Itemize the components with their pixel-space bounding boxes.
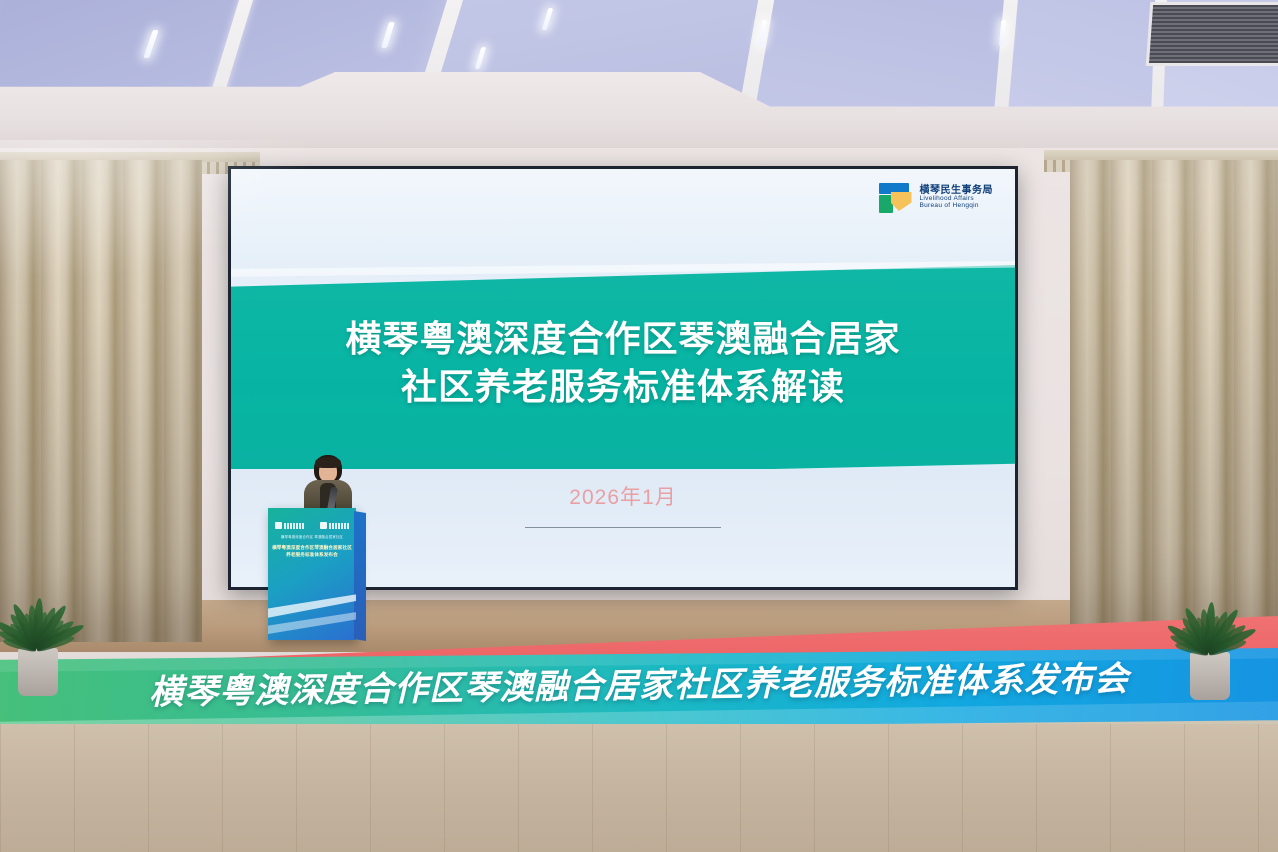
slide-divider-rule [525,527,721,528]
podium-logo-left-mark [275,522,282,529]
bureau-logo-icon [879,183,913,213]
hall-floor [0,724,1278,852]
podium-logo-row [275,522,349,529]
podium-title: 横琴粤澳深度合作区琴澳融合居家社区 养老服务标准体系发布会 [272,544,352,558]
bureau-logo-text: 横琴民生事务局 Livelihood Affairs Bureau of Hen… [920,186,994,210]
slide-title-line2: 社区养老服务标准体系解读 [231,363,1015,411]
podium-logo-left [275,522,304,529]
bureau-name-en-line2: Bureau of Hengqin [920,203,994,210]
plant-leaves-left [0,556,90,648]
podium-side-panel [354,511,366,641]
potted-plant-left [18,556,90,696]
podium-logo-right-mark [320,522,327,529]
slide-title-line1: 横琴粤澳深度合作区琴澳融合居家 [231,315,1015,363]
podium-subtitle: 横琴粤澳深度合作区 琴澳融合居家社区 [273,535,351,540]
stage-front-banner: 横琴粤澳深度合作区琴澳融合居家社区养老服务标准体系发布会 [0,648,1278,732]
podium-title-line2: 养老服务标准体系发布会 [272,551,352,558]
podium-logo-left-text [284,523,304,529]
logo-yellow-arrow [891,192,912,211]
plant-leaves-right [1158,560,1262,652]
podium: 横琴粤澳深度合作区 琴澳融合居家社区 横琴粤澳深度合作区琴澳融合居家社区 养老服… [268,508,356,640]
conference-hall-photo: 横琴民生事务局 Livelihood Affairs Bureau of Hen… [0,0,1278,852]
podium-title-line1: 横琴粤澳深度合作区琴澳融合居家社区 [272,544,352,551]
hvac-vent-grille [1146,2,1278,66]
podium-logo-right-text [329,523,349,529]
plant-pot-left [18,648,58,696]
potted-plant-right [1190,560,1262,700]
bureau-logo: 横琴民生事务局 Livelihood Affairs Bureau of Hen… [879,183,994,213]
plant-pot-right [1190,652,1230,700]
logo-green-block [879,195,893,213]
floor-plank-lines [0,724,1278,852]
podium-logo-right [320,522,349,529]
slide-title: 横琴粤澳深度合作区琴澳融合居家 社区养老服务标准体系解读 [231,315,1015,411]
speaker-fringe [315,457,341,468]
